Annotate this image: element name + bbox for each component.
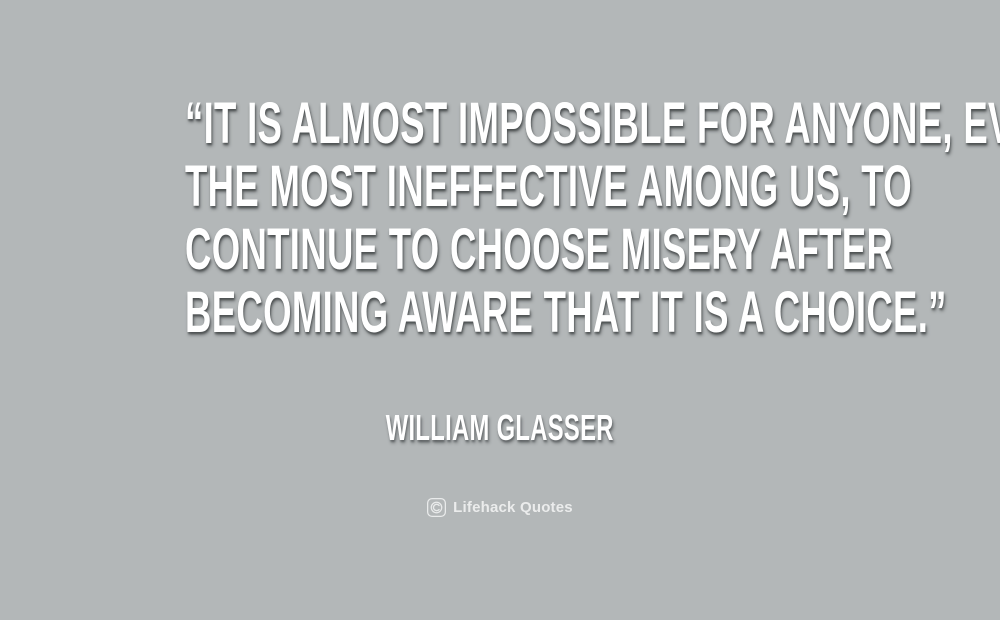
- quote-line: BECOMING AWARE THAT IT IS A CHOICE.”: [185, 281, 815, 344]
- quote-line: THE MOST INEFFECTIVE AMONG US, TO: [185, 155, 815, 218]
- brand-name: Lifehack Quotes: [453, 498, 573, 517]
- quote-line: CONTINUE TO CHOOSE MISERY AFTER: [185, 218, 815, 281]
- brand-footer: Lifehack Quotes: [0, 498, 1000, 517]
- quote-line: “IT IS ALMOST IMPOSSIBLE FOR ANYONE, EVE…: [185, 92, 815, 155]
- quote-attribution: WILLIAM GLASSER: [0, 408, 1000, 448]
- quote-text-block: “IT IS ALMOST IMPOSSIBLE FOR ANYONE, EVE…: [0, 92, 1000, 344]
- lifehack-circle-logo-icon: [427, 498, 446, 517]
- author-name: WILLIAM GLASSER: [386, 408, 614, 448]
- quote-card: “IT IS ALMOST IMPOSSIBLE FOR ANYONE, EVE…: [0, 0, 1000, 620]
